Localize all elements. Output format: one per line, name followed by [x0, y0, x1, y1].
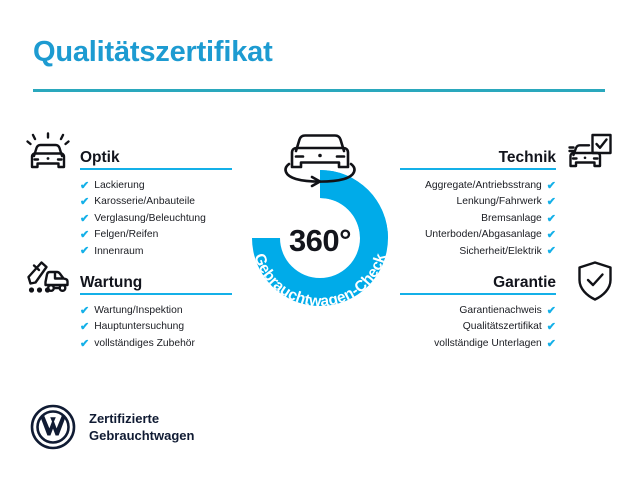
- section-optik: Optik ✔Lackierung ✔Karosserie/Anbauteile…: [80, 140, 235, 260]
- section-underline-wartung: [80, 293, 232, 295]
- shield-check-icon: [572, 259, 618, 303]
- list-item-label: Sicherheit/Elektrik: [459, 244, 541, 260]
- list-item-label: vollständige Unterlagen: [434, 336, 542, 352]
- footer-line-2: Gebrauchtwagen: [89, 427, 194, 444]
- section-underline-garantie: [400, 293, 556, 295]
- section-wartung: Wartung ✔Wartung/Inspektion ✔Hauptunters…: [80, 265, 235, 352]
- list-item: Lenkung/Fahrwerk✔: [400, 194, 556, 210]
- footer-line-1: Zertifizierte: [89, 410, 194, 427]
- list-item: vollständige Unterlagen✔: [400, 336, 556, 352]
- list-item: Sicherheit/Elektrik✔: [400, 244, 556, 260]
- list-item: ✔Karosserie/Anbauteile: [80, 194, 235, 210]
- section-garantie: Garantie Garantienachweis✔ Qualitätszert…: [400, 265, 556, 352]
- list-item-label: Karosserie/Anbauteile: [94, 194, 195, 210]
- list-item-label: Bremsanlage: [481, 211, 542, 227]
- section-title-wartung: Wartung: [80, 274, 142, 292]
- check-icon: ✔: [547, 214, 556, 225]
- checklist-garantie: Garantienachweis✔ Qualitätszertifikat✔ v…: [400, 303, 556, 352]
- title-divider: [33, 89, 605, 92]
- section-title-garantie: Garantie: [493, 274, 556, 292]
- check-icon: ✔: [547, 306, 556, 317]
- check-icon: ✔: [80, 339, 89, 350]
- list-item: ✔Wartung/Inspektion: [80, 303, 235, 319]
- list-item: Unterboden/Abgasanlage✔: [400, 227, 556, 243]
- pen-car-service-icon: [25, 257, 71, 301]
- list-item: ✔Lackierung: [80, 178, 235, 194]
- section-underline-technik: [400, 168, 556, 170]
- list-item-label: Qualitätszertifikat: [463, 319, 542, 335]
- list-item-label: Felgen/Reifen: [94, 227, 158, 243]
- section-title-technik: Technik: [499, 149, 556, 167]
- list-item: Garantienachweis✔: [400, 303, 556, 319]
- check-icon: ✔: [80, 181, 89, 192]
- check-icon: ✔: [80, 306, 89, 317]
- checklist-technik: Aggregate/Antriebsstrang✔ Lenkung/Fahrwe…: [400, 178, 556, 260]
- list-item-label: Hauptuntersuchung: [94, 319, 184, 335]
- list-item: Aggregate/Antriebsstrang✔: [400, 178, 556, 194]
- check-icon: ✔: [80, 246, 89, 257]
- list-item-label: Innenraum: [94, 244, 143, 260]
- check-icon: ✔: [80, 197, 89, 208]
- check-icon: ✔: [547, 181, 556, 192]
- checklist-wartung: ✔Wartung/Inspektion ✔Hauptuntersuchung ✔…: [80, 303, 235, 352]
- list-item: Qualitätszertifikat✔: [400, 319, 556, 335]
- list-item-label: Aggregate/Antriebsstrang: [425, 178, 542, 194]
- check-icon: ✔: [547, 322, 556, 333]
- list-item-label: Unterboden/Abgasanlage: [425, 227, 542, 243]
- list-item: ✔Innenraum: [80, 244, 235, 260]
- list-item-label: Verglasung/Beleuchtung: [94, 211, 206, 227]
- section-title-optik: Optik: [80, 149, 120, 167]
- vw-certified-lockup: Zertifizierte Gebrauchtwagen: [30, 404, 194, 450]
- list-item: Bremsanlage✔: [400, 211, 556, 227]
- check-icon: ✔: [547, 339, 556, 350]
- vw-logo-icon: [30, 404, 76, 450]
- list-item-label: Wartung/Inspektion: [94, 303, 182, 319]
- list-item-label: Garantienachweis: [459, 303, 541, 319]
- page-title: Qualitätszertifikat: [33, 36, 273, 69]
- qualitaetszertifikat-page: Qualitätszertifikat Optik ✔Lackierung ✔K…: [0, 0, 640, 480]
- car-checkbox-icon: [567, 132, 613, 176]
- checklist-optik: ✔Lackierung ✔Karosserie/Anbauteile ✔Verg…: [80, 178, 235, 260]
- car-shine-icon: [25, 132, 71, 176]
- section-underline-optik: [80, 168, 232, 170]
- badge-degrees-label: 360°: [226, 223, 414, 259]
- footer-text: Zertifizierte Gebrauchtwagen: [89, 410, 194, 444]
- list-item: ✔vollständiges Zubehör: [80, 336, 235, 352]
- check-icon: ✔: [80, 230, 89, 241]
- check-icon: ✔: [547, 246, 556, 257]
- section-technik: Technik Aggregate/Antriebsstrang✔ Lenkun…: [400, 140, 556, 260]
- list-item: ✔Felgen/Reifen: [80, 227, 235, 243]
- list-item: ✔Verglasung/Beleuchtung: [80, 211, 235, 227]
- check-icon: ✔: [547, 230, 556, 241]
- list-item-label: Lackierung: [94, 178, 144, 194]
- check-icon: ✔: [547, 197, 556, 208]
- list-item-label: vollständiges Zubehör: [94, 336, 195, 352]
- list-item: ✔Hauptuntersuchung: [80, 319, 235, 335]
- 360-gebrauchtwagen-check-badge: Gebrauchtwagen-Check 360°: [226, 120, 414, 320]
- check-icon: ✔: [80, 214, 89, 225]
- list-item-label: Lenkung/Fahrwerk: [457, 194, 542, 210]
- check-icon: ✔: [80, 322, 89, 333]
